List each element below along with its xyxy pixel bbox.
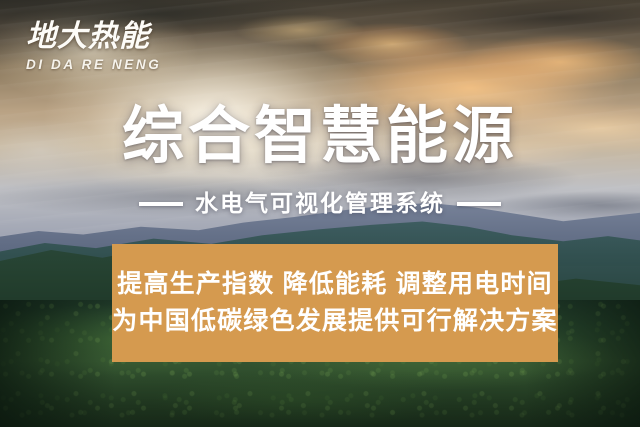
brand-logo-chinese: 地大热能 (26, 22, 226, 52)
subtitle-rule-right-icon (457, 202, 501, 206)
callout-line-2: 为中国低碳绿色发展提供可行解决方案 (112, 308, 557, 336)
callout-panel: 提高生产指数 降低能耗 调整用电时间 为中国低碳绿色发展提供可行解决方案 (112, 244, 558, 362)
page-title: 综合智慧能源 (0, 104, 640, 171)
subtitle-rule-left-icon (139, 202, 183, 206)
callout-line-1: 提高生产指数 降低能耗 调整用电时间 (117, 271, 553, 299)
poster-banner: 地大热能 DI DA RE NENG 综合智慧能源 水电气可视化管理系统 提高生… (0, 0, 640, 427)
subtitle: 水电气可视化管理系统 (0, 192, 640, 215)
subtitle-label: 水电气可视化管理系统 (195, 192, 445, 215)
brand-logo-pinyin: DI DA RE NENG (26, 57, 226, 72)
brand-logo: 地大热能 DI DA RE NENG (26, 22, 226, 72)
